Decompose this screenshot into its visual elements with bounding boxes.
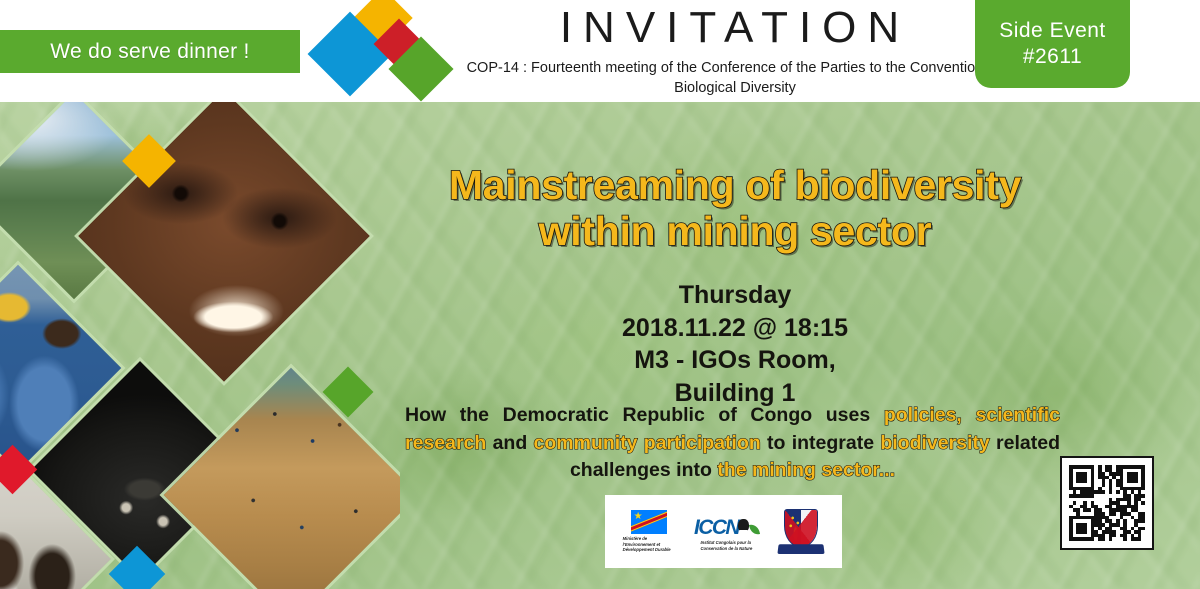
leaf-icon xyxy=(749,523,760,536)
drc-flag-icon: ★ xyxy=(631,510,667,534)
event-room: M3 - IGOs Room, xyxy=(430,344,1040,377)
desc-seg-1: How the Democratic Republic of Congo use… xyxy=(405,404,884,426)
side-event-label: Side Event xyxy=(999,18,1106,44)
okapi-icon xyxy=(738,519,749,532)
iccn-wordmark-text: ICCN xyxy=(694,517,739,538)
qr-code[interactable] xyxy=(1060,456,1154,550)
desc-seg-3: and xyxy=(486,432,533,454)
partner-logos-panel: ★ Ministère de l'Environnement et Dévelo… xyxy=(605,495,842,568)
crest-ribbon xyxy=(778,544,825,554)
desc-highlight-community-participation: community participation xyxy=(534,432,761,454)
desc-seg-4: to integrate xyxy=(761,432,881,454)
desc-seg-2 xyxy=(962,404,976,426)
poster-background: Mainstreaming of biodiversity within min… xyxy=(0,102,1200,589)
logo-caption-iccn: Institut Congolais pour la Conservation … xyxy=(700,540,752,552)
header-band: We do serve dinner ! INVITATION COP-14 :… xyxy=(0,0,1200,102)
logo-iccn: ICCN Institut Congolais pour la Conserva… xyxy=(694,512,759,552)
cop-subtitle: COP-14 : Fourteenth meeting of the Confe… xyxy=(452,58,1018,98)
cop14-diamond-logo xyxy=(312,2,444,98)
logo-drc-ministry: ★ Ministère de l'Environnement et Dévelo… xyxy=(623,510,675,554)
desc-highlight-mining-sector: the mining sector... xyxy=(717,459,895,481)
logo-university xyxy=(778,507,824,557)
invitation-poster: Mainstreaming of biodiversity within min… xyxy=(0,0,1200,589)
photo-collage xyxy=(0,102,400,589)
iccn-wordmark-icon: ICCN xyxy=(694,512,759,538)
side-event-number: #2611 xyxy=(1023,44,1082,70)
title-line-2: within mining sector xyxy=(390,208,1080,254)
desc-highlight-policies: policies, xyxy=(884,404,962,426)
invitation-heading: INVITATION xyxy=(500,5,970,51)
dinner-banner: We do serve dinner ! xyxy=(0,30,300,73)
qr-modules xyxy=(1069,465,1145,541)
event-day: Thursday xyxy=(430,279,1040,312)
desc-highlight-biodiversity: biodiversity xyxy=(880,432,989,454)
logo-caption-ministry: Ministère de l'Environnement et Développ… xyxy=(623,536,675,554)
title-line-1: Mainstreaming of biodiversity xyxy=(390,162,1080,208)
side-event-badge: Side Event #2611 xyxy=(975,0,1130,88)
event-description: How the Democratic Republic of Congo use… xyxy=(405,402,1060,485)
event-details: Thursday 2018.11.22 @ 18:15 M3 - IGOs Ro… xyxy=(430,279,1040,409)
page-title: Mainstreaming of biodiversity within min… xyxy=(390,162,1080,255)
crest-shield xyxy=(784,509,818,547)
event-datetime: 2018.11.22 @ 18:15 xyxy=(430,312,1040,345)
university-crest-icon xyxy=(778,507,824,557)
